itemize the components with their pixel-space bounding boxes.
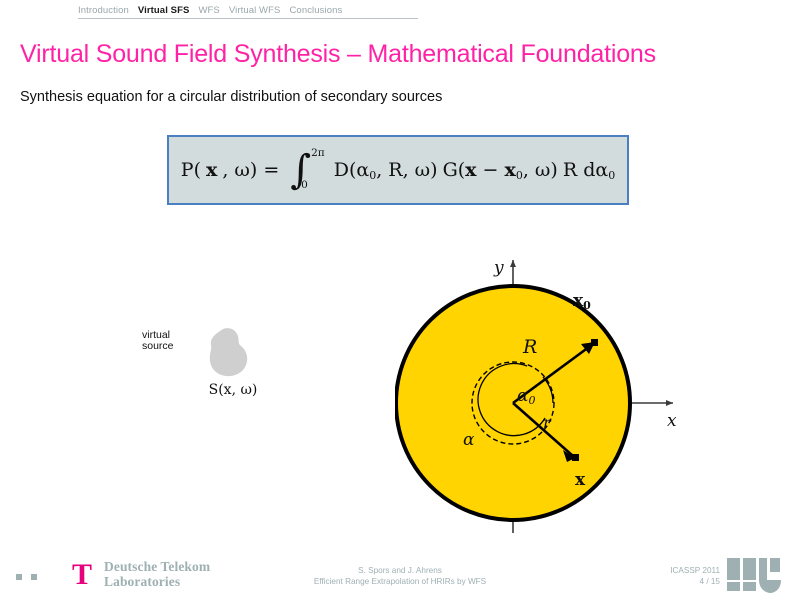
equation-g-rest: , ω) <box>523 159 558 181</box>
footer-paper-title: Efficient Range Extrapolation of HRIRs b… <box>255 576 545 587</box>
footer-conference: ICASSP 2011 <box>580 565 720 576</box>
telekom-logo-text: Deutsche Telekom Laboratories <box>104 559 210 589</box>
equation-measure: R dα0 <box>563 159 615 182</box>
virtual-source-equation: S(x, ω) <box>178 382 288 398</box>
footer-authors: S. Spors and J. Ahrens <box>255 565 545 576</box>
geometry-diagram: y x R r α0 α x0 x <box>395 248 695 538</box>
integral-group: ∫ 2π 0 <box>290 151 324 189</box>
nav-item-virtual-sfs[interactable]: Virtual SFS <box>138 5 190 16</box>
virtual-source-label-line2: source <box>142 341 202 352</box>
tu-berlin-logo-icon <box>726 556 782 594</box>
integral-limits: 2π 0 <box>308 151 325 189</box>
axis-y-label: y <box>493 258 504 278</box>
virtual-source-label: virtual source <box>142 330 202 352</box>
axis-y-arrowhead <box>510 260 516 267</box>
equation-g-x0: x <box>505 159 516 181</box>
equation-term-d: D(α0, R, ω) <box>334 159 438 182</box>
equation-d-open: D(α <box>334 159 369 181</box>
telekom-logo-line2: Laboratories <box>104 574 210 589</box>
navbar-divider <box>78 18 418 19</box>
footer-page-number: 4 / 15 <box>580 576 720 587</box>
telekom-logo-line1: Deutsche Telekom <box>104 559 210 574</box>
nav-item-introduction[interactable]: Introduction <box>78 5 129 16</box>
section-navbar: Introduction Virtual SFS WFS Virtual WFS… <box>78 2 718 18</box>
label-alpha: α <box>463 430 475 450</box>
equation-box: P(x, ω) = ∫ 2π 0 D(α0, R, ω) G(x − x0, ω… <box>167 135 629 205</box>
virtual-source-blob-icon <box>204 327 252 379</box>
equation-term-g: G(x − x0, ω) <box>443 159 558 182</box>
footer-right: ICASSP 2011 4 / 15 <box>580 565 720 587</box>
telekom-squares-icon <box>16 574 37 580</box>
axis-x-label: x <box>667 411 677 431</box>
equation-lhs-rest: , ω) = <box>222 159 279 181</box>
equation-g-open: G( <box>443 159 466 181</box>
equation-d-rest: , R, ω) <box>376 159 437 181</box>
integral-upper-limit: 2π <box>311 147 325 159</box>
equation-measure-text: R dα <box>563 159 608 181</box>
axis-x-arrowhead <box>666 400 673 406</box>
footer-center: S. Spors and J. Ahrens Efficient Range E… <box>255 565 545 587</box>
slide-root: Introduction Virtual SFS WFS Virtual WFS… <box>0 0 800 600</box>
point-x0-marker <box>591 339 598 346</box>
equation-g-x: x <box>465 159 476 181</box>
slide-subtitle: Synthesis equation for a circular distri… <box>20 89 720 105</box>
label-point-x: x <box>575 470 586 490</box>
nav-item-virtual-wfs[interactable]: Virtual WFS <box>229 5 281 16</box>
page-title: Virtual Sound Field Synthesis – Mathemat… <box>20 40 760 69</box>
telekom-t-icon: T <box>64 561 100 588</box>
label-point-x0: x0 <box>573 291 591 312</box>
synthesis-equation: P(x, ω) = ∫ 2π 0 D(α0, R, ω) G(x − x0, ω… <box>181 151 615 189</box>
nav-item-wfs[interactable]: WFS <box>198 5 219 16</box>
point-x-marker <box>572 454 579 461</box>
equation-lhs-x: x <box>206 159 217 181</box>
equation-g-x0-subscript: 0 <box>516 169 523 182</box>
nav-item-conclusions[interactable]: Conclusions <box>289 5 342 16</box>
equation-lhs-p: P( <box>181 159 201 181</box>
telekom-logo: T Deutsche Telekom Laboratories <box>16 556 246 592</box>
integral-lower-limit: 0 <box>301 179 325 191</box>
equation-g-minus: − <box>483 159 499 181</box>
label-R: R <box>522 336 537 358</box>
equation-measure-subscript: 0 <box>608 169 615 182</box>
label-r: r <box>543 413 552 432</box>
